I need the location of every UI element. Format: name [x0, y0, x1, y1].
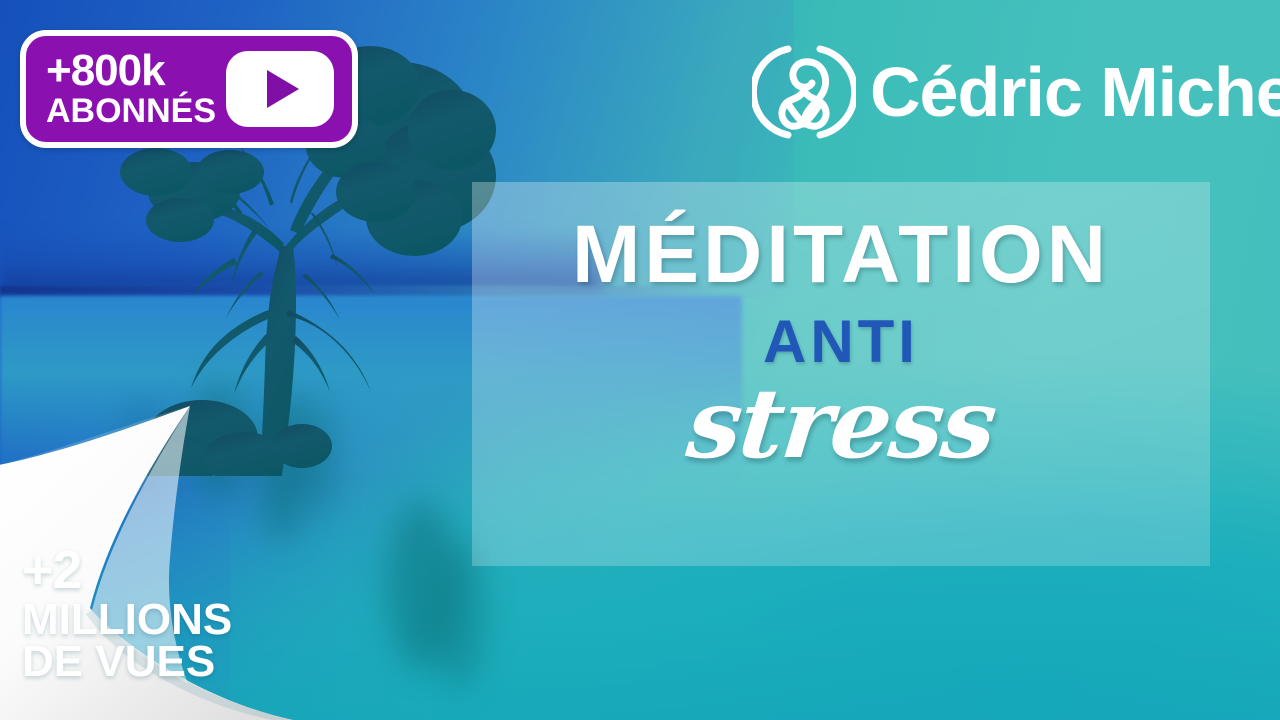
subscriber-badge-text: +800k ABONNÉS [46, 50, 216, 127]
subscriber-label: ABONNÉS [46, 95, 216, 127]
views-count: +2 [22, 546, 232, 596]
title-line-anti: ANTI [763, 312, 919, 372]
title-line-stress: stress [683, 374, 1000, 475]
views-badge: +2 MILLIONS DE VUES [22, 546, 232, 683]
title-line-meditation: MÉDITATION [572, 214, 1110, 296]
brand-name: Cédric Michel [870, 57, 1280, 127]
play-triangle-icon [267, 70, 299, 108]
youtube-thumbnail: MÉDITATION ANTI stress [0, 0, 1280, 720]
subscriber-badge[interactable]: +800k ABONNÉS [20, 30, 358, 148]
subscriber-count: +800k [46, 50, 216, 92]
youtube-play-icon[interactable] [226, 51, 334, 127]
title-block: MÉDITATION ANTI stress [472, 182, 1210, 566]
infinity-knot-monogram-icon [752, 36, 856, 148]
brand-logo[interactable]: Cédric Michel [752, 36, 1280, 148]
views-unit: MILLIONS [22, 600, 232, 640]
views-subtitle: DE VUES [22, 642, 232, 682]
